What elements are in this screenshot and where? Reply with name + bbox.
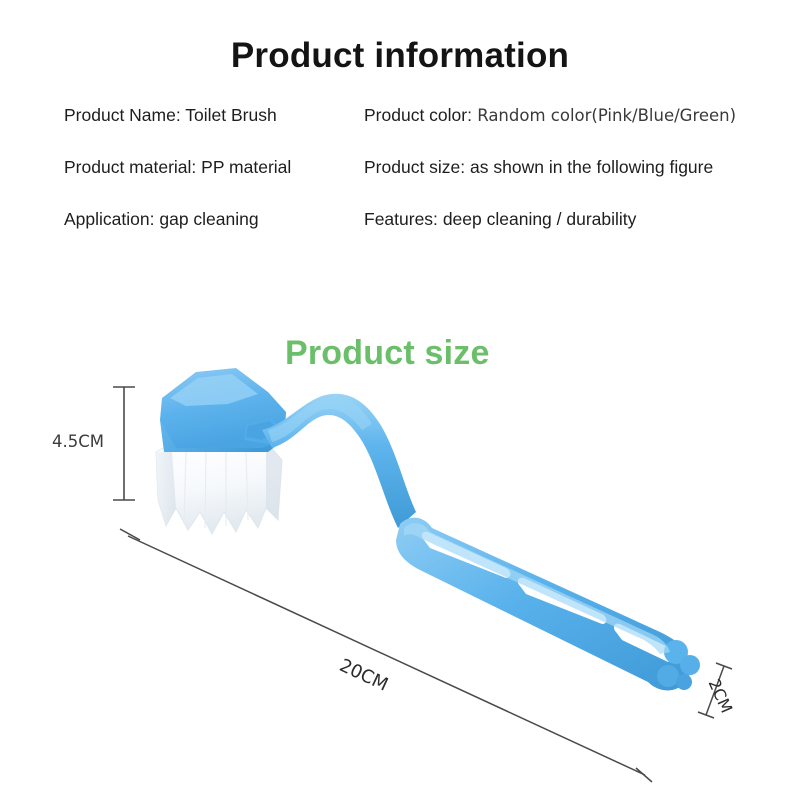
dimension-line-length	[120, 529, 652, 782]
product-size-figure: 4.5CM 20CM 2CM	[0, 0, 800, 800]
brush-head	[160, 368, 286, 452]
product-information-page: Product information Product Name: Toilet…	[0, 0, 800, 800]
brush-bristles	[156, 444, 282, 534]
dimension-label-height: 4.5CM	[52, 432, 104, 451]
brush-handle	[396, 518, 700, 691]
dimension-line-height	[113, 387, 135, 500]
